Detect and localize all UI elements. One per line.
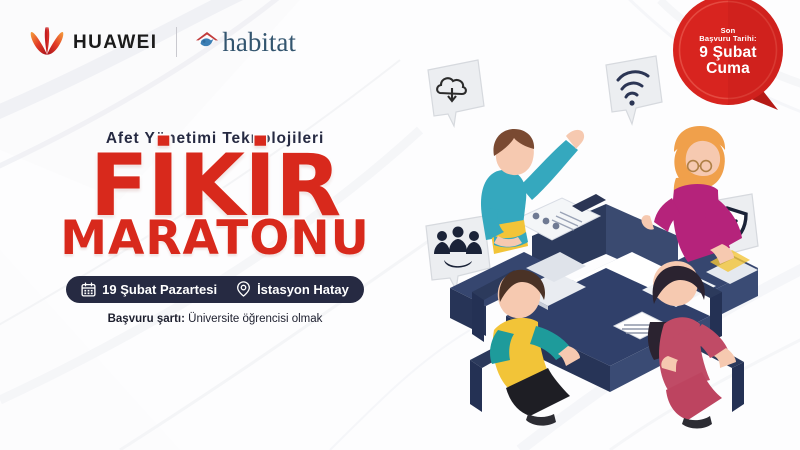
event-location-text: İstasyon Hatay [257,282,349,297]
huawei-wordmark: HUAWEI [73,33,157,52]
calendar-icon [81,282,96,297]
event-date-text: 19 Şubat Pazartesi [102,282,217,297]
title-line-2: MARATONU [0,215,430,262]
habitat-wordmark: habitat [222,30,295,55]
huawei-logo: HUAWEI [30,27,157,57]
promo-poster: HUAWEI habitat Son Başvuru Tarihi: 9 Şub… [0,0,800,450]
vertical-divider [176,27,177,57]
headline-block: Afet Yönetimi Teknolojileri FİKİR MARATO… [0,130,430,325]
huawei-petal-logo-icon [30,27,64,57]
habitat-logo: habitat [194,30,295,55]
condition-value: Üniversite öğrencisi olmak [188,313,322,325]
illustration-team-working [410,40,800,430]
application-condition: Başvuru şartı: Üniversite öğrencisi olma… [0,313,430,325]
bubble-cloud-download [428,60,484,126]
condition-label: Başvuru şartı: [108,313,185,325]
event-date: 19 Şubat Pazartesi [81,282,217,297]
habitat-house-roof-icon [194,30,220,52]
location-pin-icon [236,281,251,297]
event-location: İstasyon Hatay [236,281,349,297]
event-info-pill: 19 Şubat Pazartesi İstasyon Hatay [66,276,364,303]
logo-bar: HUAWEI habitat [30,22,296,62]
bubble-wifi [606,56,662,124]
